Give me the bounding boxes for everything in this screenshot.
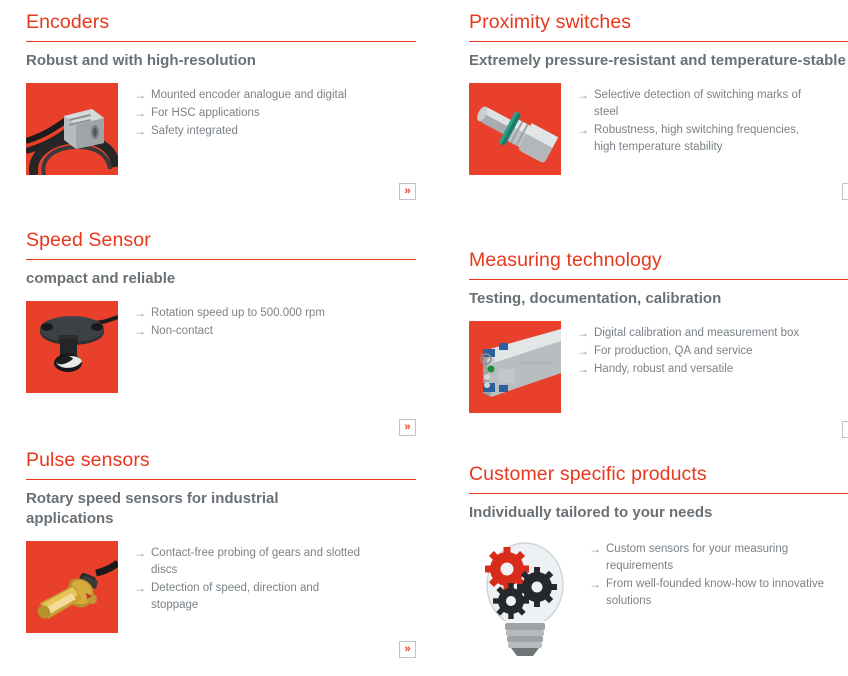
list-item: → Robustness, high switching frequencies… (577, 122, 848, 156)
lightbulb-gears-photo[interactable] (469, 537, 581, 657)
speed-sensor-photo[interactable] (26, 301, 118, 393)
read-more-button[interactable]: » (842, 421, 848, 438)
card-title[interactable]: Customer specific products (469, 462, 848, 486)
card-subtitle: Extremely pressure-resistant and tempera… (469, 51, 848, 71)
bullet-list: → Mounted encoder analogue and digital →… (134, 83, 416, 141)
card-subtitle: Individually tailored to your needs (469, 503, 848, 523)
card-pulse-sensors: Pulse sensors Rotary speed sensors for i… (26, 448, 416, 658)
bullet-text: Mounted encoder analogue and digital (151, 87, 369, 104)
bullet-text: Robustness, high switching frequencies, … (594, 122, 812, 156)
card-subtitle: Robust and with high-resolution (26, 51, 408, 71)
list-item: → Detection of speed, direction and stop… (134, 580, 416, 614)
card-subtitle: Testing, documentation, calibration (469, 289, 848, 309)
bullet-text: Rotation speed up to 500.000 rpm (151, 305, 369, 322)
read-more-button[interactable]: » (399, 183, 416, 200)
list-item: → Selective detection of switching marks… (577, 87, 848, 121)
bullet-text: Selective detection of switching marks o… (594, 87, 812, 121)
card-speed-sensor: Speed Sensor compact and reliable (26, 228, 416, 436)
arrow-right-icon: → (577, 325, 594, 342)
bullet-list: → Rotation speed up to 500.000 rpm → Non… (134, 301, 416, 341)
read-more-button[interactable]: » (399, 641, 416, 658)
bullet-text: From well-founded know-how to innovative… (606, 576, 824, 610)
arrow-right-icon: → (589, 576, 606, 610)
arrow-right-icon: → (134, 545, 151, 579)
measuring-box-photo[interactable] (469, 321, 561, 413)
card-title[interactable]: Proximity switches (469, 10, 848, 34)
card-title[interactable]: Pulse sensors (26, 448, 416, 472)
read-more-button[interactable]: » (842, 183, 848, 200)
arrow-right-icon: → (134, 580, 151, 614)
bullet-list: → Custom sensors for your measuring requ… (589, 537, 848, 611)
pulse-sensor-photo[interactable] (26, 541, 118, 633)
bullet-text: Non-contact (151, 323, 369, 340)
bullet-list: → Selective detection of switching marks… (577, 83, 848, 157)
bullet-list: → Digital calibration and measurement bo… (577, 321, 848, 379)
title-rule (26, 479, 416, 480)
card-title[interactable]: Measuring technology (469, 248, 848, 272)
card-title[interactable]: Speed Sensor (26, 228, 416, 252)
list-item: → Non-contact (134, 323, 416, 340)
list-item: → Mounted encoder analogue and digital (134, 87, 416, 104)
title-rule (469, 41, 848, 42)
list-item: → For HSC applications (134, 105, 416, 122)
card-encoders: Encoders Robust and with high-resolution (26, 10, 416, 200)
bullet-list: → Contact-free probing of gears and slot… (134, 541, 416, 615)
title-rule (26, 41, 416, 42)
arrow-right-icon: → (134, 123, 151, 140)
arrow-right-icon: → (589, 541, 606, 575)
list-item: → Contact-free probing of gears and slot… (134, 545, 416, 579)
bullet-text: Contact-free probing of gears and slotte… (151, 545, 369, 579)
bullet-text: Detection of speed, direction and stoppa… (151, 580, 369, 614)
encoder-sensor-photo[interactable] (26, 83, 118, 175)
arrow-right-icon: → (134, 87, 151, 104)
title-rule (469, 279, 848, 280)
arrow-right-icon: → (577, 343, 594, 360)
bullet-text: For production, QA and service (594, 343, 812, 360)
bullet-text: For HSC applications (151, 105, 369, 122)
card-subtitle: Rotary speed sensors for industrial appl… (26, 489, 326, 529)
product-overview-page: Encoders Robust and with high-resolution (0, 0, 848, 676)
card-subtitle: compact and reliable (26, 269, 408, 289)
list-item: → Safety integrated (134, 123, 416, 140)
card-title[interactable]: Encoders (26, 10, 416, 34)
card-measuring-technology: Measuring technology Testing, documentat… (469, 248, 848, 438)
title-rule (469, 493, 848, 494)
list-item: → Handy, robust and versatile (577, 361, 848, 378)
list-item: → Digital calibration and measurement bo… (577, 325, 848, 342)
card-customer-specific-products: Customer specific products Individually … (469, 462, 848, 676)
arrow-right-icon: → (134, 323, 151, 340)
bullet-text: Digital calibration and measurement box (594, 325, 812, 342)
arrow-right-icon: → (134, 305, 151, 322)
bullet-text: Handy, robust and versatile (594, 361, 812, 378)
list-item: → For production, QA and service (577, 343, 848, 360)
list-item: → Rotation speed up to 500.000 rpm (134, 305, 416, 322)
read-more-button[interactable]: » (399, 419, 416, 436)
proximity-switch-photo[interactable] (469, 83, 561, 175)
bullet-text: Safety integrated (151, 123, 369, 140)
bullet-text: Custom sensors for your measuring requir… (606, 541, 824, 575)
arrow-right-icon: → (577, 87, 594, 121)
title-rule (26, 259, 416, 260)
list-item: → Custom sensors for your measuring requ… (589, 541, 848, 575)
card-proximity-switches: Proximity switches Extremely pressure-re… (469, 10, 848, 200)
arrow-right-icon: → (134, 105, 151, 122)
arrow-right-icon: → (577, 122, 594, 156)
list-item: → From well-founded know-how to innovati… (589, 576, 848, 610)
arrow-right-icon: → (577, 361, 594, 378)
